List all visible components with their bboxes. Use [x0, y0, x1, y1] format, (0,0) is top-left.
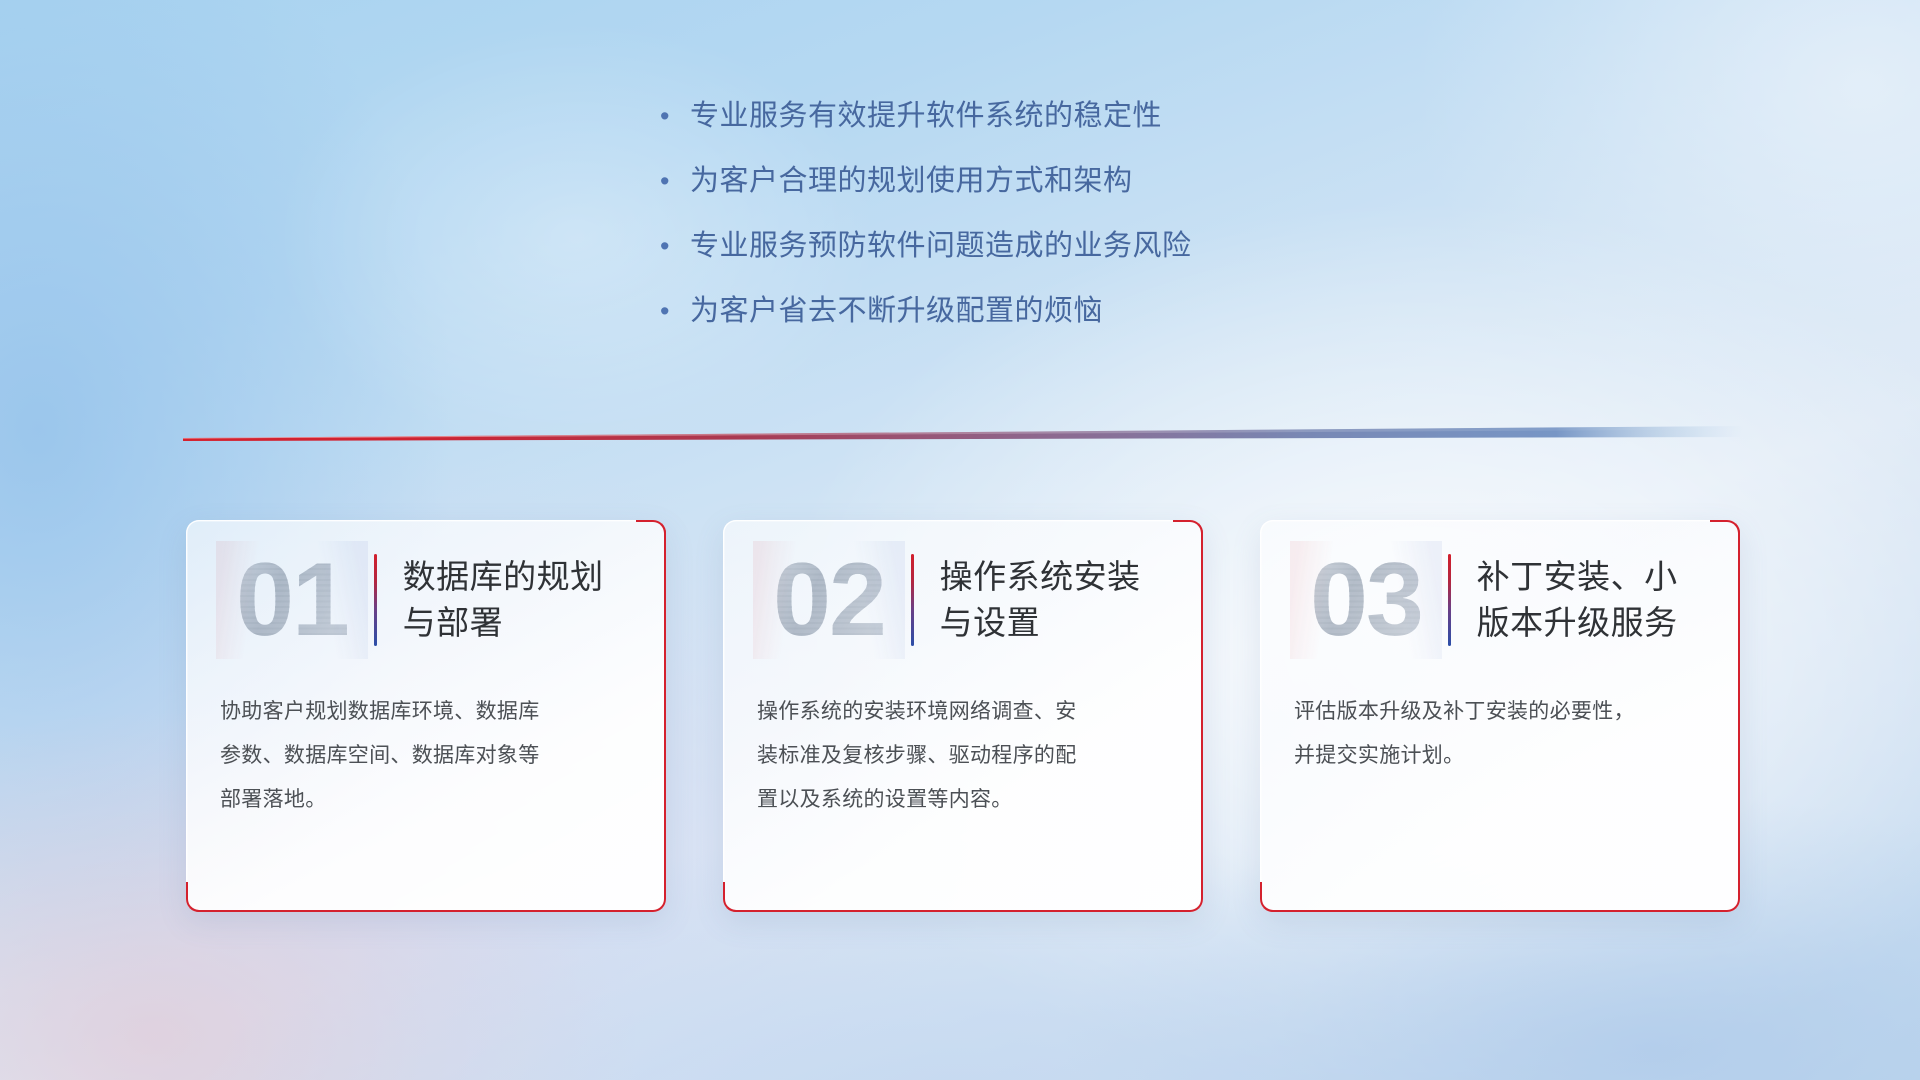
bullet-label: 专业服务有效提升软件系统的稳定性: [690, 96, 1162, 136]
card-title-rule: [374, 554, 377, 646]
card-title-line: 与设置: [940, 600, 1169, 646]
bullet-label: 专业服务预防软件问题造成的业务风险: [690, 226, 1192, 266]
bullet-item: • 专业服务有效提升软件系统的稳定性: [660, 96, 1420, 161]
card-title: 补丁安装、小 版本升级服务: [1477, 554, 1706, 646]
card-body: 协助客户规划数据库环境、数据库 参数、数据库空间、数据库对象等 部署落地。: [186, 680, 666, 822]
card-body-line: 协助客户规划数据库环境、数据库: [220, 690, 630, 734]
card-title-rule: [1448, 554, 1451, 646]
card-title: 数据库的规划 与部署: [403, 554, 632, 646]
card-body-line: 并提交实施计划。: [1294, 734, 1704, 778]
bullet-label: 为客户省去不断升级配置的烦恼: [690, 291, 1103, 331]
card-title-line: 版本升级服务: [1477, 600, 1706, 646]
card-title-line: 补丁安装、小: [1477, 554, 1706, 600]
service-card-row: 01 数据库的规划 与部署 协助客户规划数据库环境、数据库 参数、数据库空间、数…: [186, 520, 1742, 912]
service-card[interactable]: 03 补丁安装、小 版本升级服务 评估版本升级及补丁安装的必要性， 并提交实施计…: [1260, 520, 1740, 912]
card-title-line: 数据库的规划: [403, 554, 632, 600]
card-header: 01 数据库的规划 与部署: [186, 520, 666, 680]
bullet-item: • 为客户省去不断升级配置的烦恼: [660, 291, 1420, 356]
benefits-bullet-list: • 专业服务有效提升软件系统的稳定性 • 为客户合理的规划使用方式和架构 • 专…: [660, 96, 1420, 356]
card-body-line: 置以及系统的设置等内容。: [757, 778, 1167, 822]
card-header: 02 操作系统安装 与设置: [723, 520, 1203, 680]
bullet-item: • 专业服务预防软件问题造成的业务风险: [660, 226, 1420, 291]
bullet-dot-icon: •: [660, 226, 690, 266]
slide-canvas: • 专业服务有效提升软件系统的稳定性 • 为客户合理的规划使用方式和架构 • 专…: [0, 0, 1920, 1080]
section-divider: [183, 420, 1743, 446]
card-body-line: 操作系统的安装环境网络调查、安: [757, 690, 1167, 734]
card-number-watermark: 02: [753, 541, 905, 659]
card-number-glyph: 01: [216, 541, 368, 659]
service-card[interactable]: 02 操作系统安装 与设置 操作系统的安装环境网络调查、安 装标准及复核步骤、驱…: [723, 520, 1203, 912]
bullet-label: 为客户合理的规划使用方式和架构: [690, 161, 1133, 201]
card-number-glyph: 03: [1290, 541, 1442, 659]
service-card[interactable]: 01 数据库的规划 与部署 协助客户规划数据库环境、数据库 参数、数据库空间、数…: [186, 520, 666, 912]
divider-wedge-icon: [183, 420, 1743, 446]
card-number-glyph: 02: [753, 541, 905, 659]
card-title: 操作系统安装 与设置: [940, 554, 1169, 646]
card-title-line: 与部署: [403, 600, 632, 646]
bullet-dot-icon: •: [660, 161, 690, 201]
card-body: 操作系统的安装环境网络调查、安 装标准及复核步骤、驱动程序的配 置以及系统的设置…: [723, 680, 1203, 822]
card-title-line: 操作系统安装: [940, 554, 1169, 600]
card-title-rule: [911, 554, 914, 646]
card-header: 03 补丁安装、小 版本升级服务: [1260, 520, 1740, 680]
card-number-watermark: 03: [1290, 541, 1442, 659]
card-body-line: 评估版本升级及补丁安装的必要性，: [1294, 690, 1704, 734]
card-body-line: 装标准及复核步骤、驱动程序的配: [757, 734, 1167, 778]
bullet-item: • 为客户合理的规划使用方式和架构: [660, 161, 1420, 226]
card-body-line: 参数、数据库空间、数据库对象等: [220, 734, 630, 778]
card-body: 评估版本升级及补丁安装的必要性， 并提交实施计划。: [1260, 680, 1740, 778]
card-body-line: 部署落地。: [220, 778, 630, 822]
bullet-dot-icon: •: [660, 96, 690, 136]
bullet-dot-icon: •: [660, 291, 690, 331]
card-number-watermark: 01: [216, 541, 368, 659]
